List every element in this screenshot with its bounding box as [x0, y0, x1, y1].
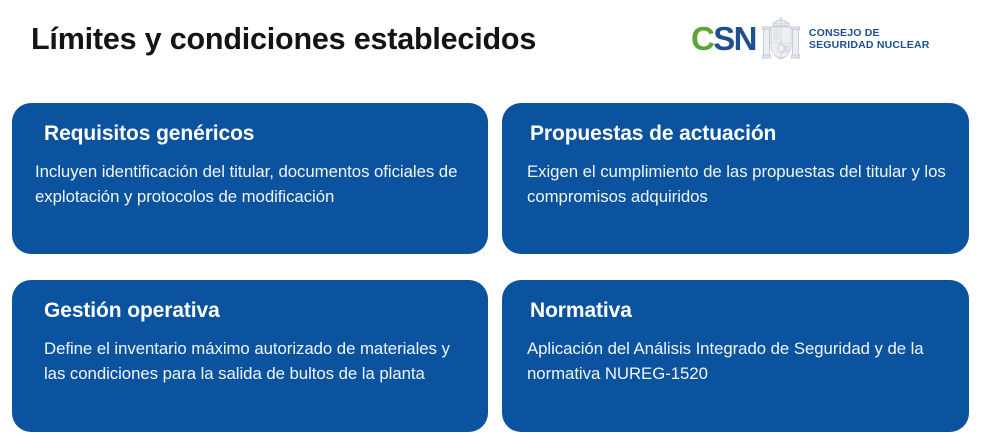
slide-canvas: Límites y condiciones establecidos CSN	[0, 0, 981, 444]
card-body: Define el inventario máximo autorizado d…	[44, 336, 468, 386]
csn-logo: CSN	[691, 16, 930, 62]
csn-logo-line-2: SEGURIDAD NUCLEAR	[809, 39, 930, 52]
csn-logo-line-1: CONSEJO DE	[809, 27, 930, 40]
card-heading: Requisitos genéricos	[44, 121, 468, 147]
card-heading: Normativa	[530, 298, 949, 324]
page-title: Límites y condiciones establecidos	[31, 19, 536, 59]
card-normativa[interactable]: Normativa Aplicación del Análisis Integr…	[502, 280, 969, 432]
card-body: Incluyen identificación del titular, doc…	[35, 159, 468, 209]
card-heading: Propuestas de actuación	[530, 121, 949, 147]
card-body: Exigen el cumplimiento de las propuestas…	[527, 159, 949, 209]
cards-grid: Requisitos genéricos Incluyen identifica…	[12, 103, 969, 432]
card-body: Aplicación del Análisis Integrado de Seg…	[527, 336, 949, 386]
csn-logo-text: CONSEJO DE SEGURIDAD NUCLEAR	[809, 27, 930, 52]
csn-letter-c: C	[691, 20, 713, 57]
slide-header: Límites y condiciones establecidos CSN	[0, 0, 981, 88]
card-heading: Gestión operativa	[44, 298, 468, 324]
card-requisitos-genericos[interactable]: Requisitos genéricos Incluyen identifica…	[12, 103, 488, 254]
card-propuestas-de-actuacion[interactable]: Propuestas de actuación Exigen el cumpli…	[502, 103, 969, 254]
csn-wordmark: CSN	[691, 22, 756, 56]
card-gestion-operativa[interactable]: Gestión operativa Define el inventario m…	[12, 280, 488, 432]
spanish-coat-of-arms-icon	[760, 16, 802, 62]
csn-letters-sn: SN	[713, 20, 756, 57]
